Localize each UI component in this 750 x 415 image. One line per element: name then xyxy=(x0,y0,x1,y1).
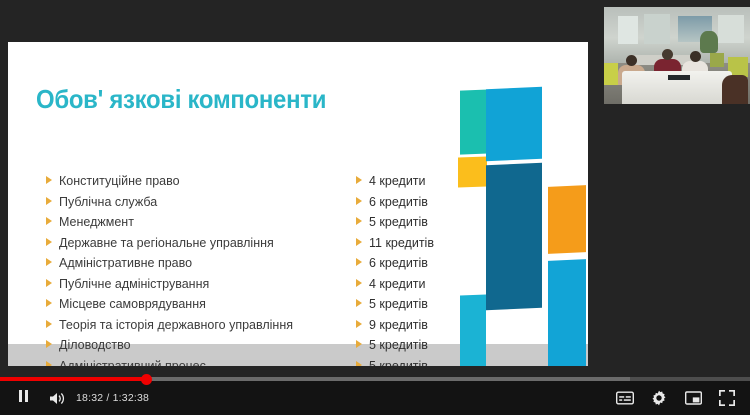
window-pane xyxy=(644,14,670,44)
credits-row: 5 кредитів xyxy=(356,357,476,367)
triangle-bullet-icon xyxy=(46,171,59,189)
credits-row-label: 5 кредитів xyxy=(369,338,428,352)
subject-row-label: Адміністративне право xyxy=(59,256,192,270)
subject-row-label: Державне та регіональне управління xyxy=(59,236,274,250)
subject-row: Менеджмент xyxy=(46,213,346,234)
subject-row-label: Адміністративний процес xyxy=(59,359,206,367)
subject-row: Місцеве самоврядування xyxy=(46,295,346,316)
triangle-bullet-icon xyxy=(46,315,59,333)
triangle-bullet-icon xyxy=(356,294,369,312)
credits-row-label: 4 кредити xyxy=(369,174,426,188)
triangle-bullet-icon xyxy=(46,294,59,312)
window-pane xyxy=(618,16,638,44)
credits-row: 4 кредити xyxy=(356,275,476,296)
triangle-bullet-icon xyxy=(46,233,59,251)
credits-row: 6 кредитів xyxy=(356,254,476,275)
webcam-scene xyxy=(604,7,750,104)
fullscreen-button[interactable] xyxy=(712,381,742,415)
triangle-bullet-icon xyxy=(356,171,369,189)
window-pane xyxy=(718,15,744,43)
player-controls: 18:32 / 1:32:38 xyxy=(0,381,750,415)
video-player: 4 Обов' язкові компоненти Конституційне … xyxy=(0,0,750,415)
slide-title: Обов' язкові компоненти xyxy=(36,84,326,115)
pause-button[interactable] xyxy=(10,381,36,415)
credits-row-label: 6 кредитів xyxy=(369,195,428,209)
subject-row: Теорія та історія державного управління xyxy=(46,316,346,337)
subject-row: Діловодство xyxy=(46,336,346,357)
credits-row-label: 9 кредитів xyxy=(369,318,428,332)
pause-icon xyxy=(19,389,28,407)
video-viewport[interactable]: 4 Обов' язкові компоненти Конституційне … xyxy=(0,0,750,381)
triangle-bullet-icon xyxy=(356,335,369,353)
chair xyxy=(710,53,724,67)
volume-icon xyxy=(49,391,66,406)
subject-row: Публічне адміністрування xyxy=(46,275,346,296)
triangle-bullet-icon xyxy=(356,356,369,367)
volume-button[interactable] xyxy=(44,381,70,415)
triangle-bullet-icon xyxy=(46,335,59,353)
triangle-bullet-icon xyxy=(356,192,369,210)
chair xyxy=(604,63,618,85)
subjects-column: Конституційне правоПублічна службаМенедж… xyxy=(46,172,346,366)
person-head xyxy=(662,49,673,60)
credits-row: 5 кредитів xyxy=(356,336,476,357)
subject-row-label: Публічне адміністрування xyxy=(59,277,209,291)
triangle-bullet-icon xyxy=(46,356,59,367)
subject-row-label: Місцеве самоврядування xyxy=(59,297,206,311)
subject-row-label: Діловодство xyxy=(59,338,131,352)
decoration-block-cyan-top xyxy=(486,87,542,161)
credits-row: 6 кредитів xyxy=(356,193,476,214)
subject-row-label: Публічна служба xyxy=(59,195,157,209)
subject-row-label: Теорія та історія державного управління xyxy=(59,318,293,332)
credits-row-label: 5 кредитів xyxy=(369,297,428,311)
triangle-bullet-icon xyxy=(46,253,59,271)
subject-row-label: Конституційне право xyxy=(59,174,180,188)
person-foreground xyxy=(722,75,748,104)
person-head xyxy=(626,55,637,66)
subject-row: Державне та регіональне управління xyxy=(46,234,346,255)
triangle-bullet-icon xyxy=(356,274,369,292)
subject-row: Адміністративне право xyxy=(46,254,346,275)
person-head xyxy=(690,51,701,62)
credits-row: 11 кредитів xyxy=(356,234,476,255)
subject-row-label: Менеджмент xyxy=(59,215,134,229)
subtitles-button[interactable] xyxy=(610,381,640,415)
triangle-bullet-icon xyxy=(46,274,59,292)
decoration-block-orange xyxy=(548,185,586,254)
triangle-bullet-icon xyxy=(356,233,369,251)
time-display: 18:32 / 1:32:38 xyxy=(76,381,149,415)
subject-row: Адміністративний процес xyxy=(46,357,346,367)
triangle-bullet-icon xyxy=(46,192,59,210)
triangle-bullet-icon xyxy=(356,315,369,333)
settings-button[interactable] xyxy=(644,381,674,415)
subject-row: Публічна служба xyxy=(46,193,346,214)
subtitles-icon xyxy=(616,391,634,405)
credits-row-label: 5 кредитів xyxy=(369,215,428,229)
triangle-bullet-icon xyxy=(356,253,369,271)
gear-icon xyxy=(651,390,667,406)
fullscreen-icon xyxy=(719,390,735,406)
credits-row: 5 кредитів xyxy=(356,213,476,234)
decoration-block-dark-blue xyxy=(486,163,542,310)
device-on-table xyxy=(668,75,690,80)
plant xyxy=(700,31,718,53)
credits-row: 5 кредитів xyxy=(356,295,476,316)
credits-row: 4 кредити xyxy=(356,172,476,193)
credits-row-label: 4 кредити xyxy=(369,277,426,291)
decoration-block-cyan-mid xyxy=(548,259,586,366)
credits-column: 4 кредити6 кредитів5 кредитів11 кредитів… xyxy=(356,172,476,366)
subject-row: Конституційне право xyxy=(46,172,346,193)
miniplayer-button[interactable] xyxy=(678,381,708,415)
presentation-slide: 4 Обов' язкові компоненти Конституційне … xyxy=(8,42,588,366)
credits-row: 9 кредитів xyxy=(356,316,476,337)
webcam-overlay[interactable] xyxy=(604,7,750,104)
triangle-bullet-icon xyxy=(46,212,59,230)
triangle-bullet-icon xyxy=(356,212,369,230)
credits-row-label: 11 кредитів xyxy=(369,236,434,250)
miniplayer-icon xyxy=(685,391,702,405)
credits-row-label: 6 кредитів xyxy=(369,256,428,270)
credits-row-label: 5 кредитів xyxy=(369,359,428,367)
